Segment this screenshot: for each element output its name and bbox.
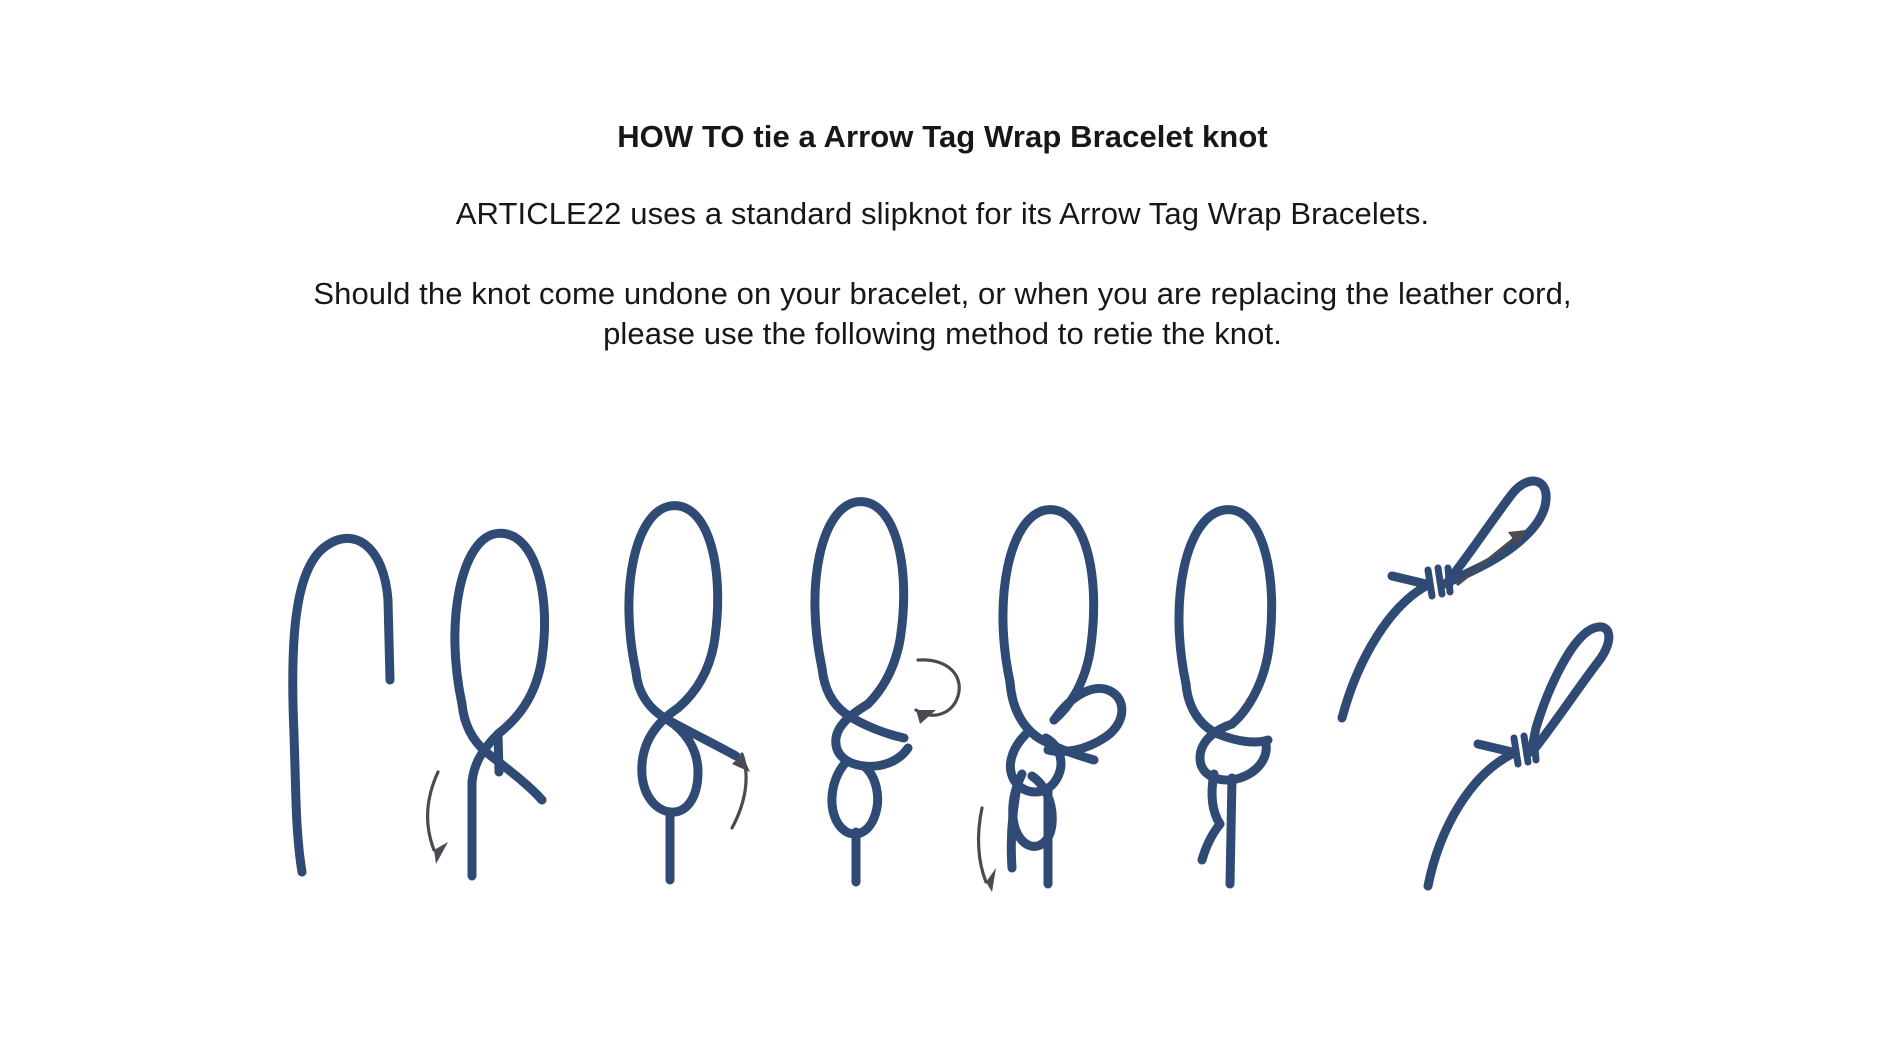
paragraph-intro-line-1: ARTICLE22 uses a standard slipknot for i… (0, 194, 1885, 234)
knot-step-4-pass-through (815, 502, 959, 882)
paragraph-instruction-line-1: Should the knot come undone on your brac… (0, 274, 1885, 314)
page-title: HOW TO tie a Arrow Tag Wrap Bracelet kno… (0, 118, 1885, 156)
knot-step-6-completed-knot (1179, 510, 1272, 884)
paragraph-intro: ARTICLE22 uses a standard slipknot for i… (0, 194, 1885, 234)
paragraph-instruction: Should the knot come undone on your brac… (0, 274, 1885, 355)
step-4-rotation-arrow-icon (916, 660, 959, 724)
knot-step-1-folded-cord (293, 538, 390, 872)
knot-step-2-cross-cord (428, 533, 545, 876)
knot-step-8-finished-knot (1428, 627, 1609, 886)
knot-step-5-tighten (979, 510, 1122, 892)
step-3-direction-arrow-icon (732, 754, 750, 828)
step-5-direction-arrow-icon (979, 808, 996, 892)
knot-step-diagram (280, 472, 1620, 902)
step-2-direction-arrow-icon (428, 772, 448, 864)
knot-step-3-wrap-end (629, 506, 750, 880)
paragraph-instruction-line-2: please use the following method to retie… (0, 314, 1885, 354)
instruction-text-block: HOW TO tie a Arrow Tag Wrap Bracelet kno… (0, 118, 1885, 355)
page-root: HOW TO tie a Arrow Tag Wrap Bracelet kno… (0, 0, 1885, 1060)
knot-step-7-adjust-loop (1342, 481, 1546, 718)
